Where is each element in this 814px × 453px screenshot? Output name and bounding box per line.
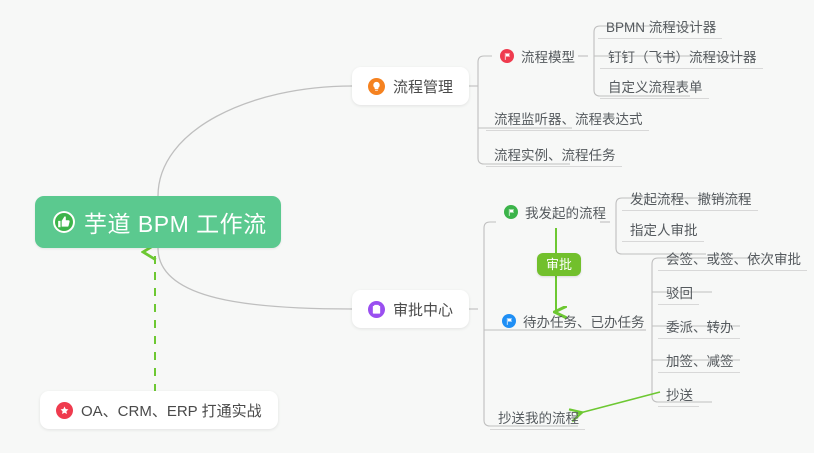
thumbs-up-icon xyxy=(53,211,75,233)
node-instance-task[interactable]: 流程实例、流程任务 xyxy=(486,141,622,167)
node-label: 我发起的流程 xyxy=(525,202,606,222)
node-designated-approver[interactable]: 指定人审批 xyxy=(622,216,704,242)
node-custom-process-form[interactable]: 自定义流程表单 xyxy=(600,73,709,99)
node-label: 流程监听器、流程表达式 xyxy=(494,108,643,128)
flag-icon-green xyxy=(504,205,518,219)
node-label: 流程实例、流程任务 xyxy=(494,144,616,164)
root-label: 芋道 BPM 工作流 xyxy=(84,205,267,239)
node-label: 抄送我的流程 xyxy=(498,407,579,427)
node-listener-expression[interactable]: 流程监听器、流程表达式 xyxy=(486,105,649,131)
bottom-note-label: OA、CRM、ERP 打通实战 xyxy=(81,400,262,421)
node-label: 抄送 xyxy=(666,384,693,404)
node-label: 待办任务、已办任务 xyxy=(523,311,645,331)
root-node[interactable]: 芋道 BPM 工作流 xyxy=(35,196,281,248)
lightbulb-icon xyxy=(368,78,385,95)
bottom-note[interactable]: OA、CRM、ERP 打通实战 xyxy=(40,391,278,429)
node-process-model[interactable]: 流程模型 xyxy=(492,43,581,69)
node-add-remove-sign[interactable]: 加签、减签 xyxy=(658,347,740,373)
node-label: 流程模型 xyxy=(521,46,575,66)
node-bpmn-designer[interactable]: BPMN 流程设计器 xyxy=(598,13,722,39)
branch-label: 审批中心 xyxy=(393,299,453,320)
node-label: 钉钉（飞书）流程设计器 xyxy=(608,46,757,66)
clipboard-icon xyxy=(368,301,385,318)
node-start-cancel-process[interactable]: 发起流程、撤销流程 xyxy=(622,185,758,211)
node-label: 会签、或签、依次审批 xyxy=(666,248,801,268)
flag-icon-blue xyxy=(502,314,516,328)
branch-approval-center[interactable]: 审批中心 xyxy=(352,290,469,328)
node-label: 指定人审批 xyxy=(630,219,698,239)
branch-process-management[interactable]: 流程管理 xyxy=(352,67,469,105)
node-label: 加签、减签 xyxy=(666,350,734,370)
node-label: BPMN 流程设计器 xyxy=(606,16,716,36)
node-label: 自定义流程表单 xyxy=(608,76,703,96)
node-label: 发起流程、撤销流程 xyxy=(630,188,752,208)
node-my-started-process[interactable]: 我发起的流程 xyxy=(496,199,612,225)
node-delegate-transfer[interactable]: 委派、转办 xyxy=(658,313,740,339)
approval-badge-label: 审批 xyxy=(546,257,572,272)
node-reject[interactable]: 驳回 xyxy=(658,279,699,305)
branch-label: 流程管理 xyxy=(393,76,453,97)
node-cc[interactable]: 抄送 xyxy=(658,381,699,407)
node-dingtalk-feishu-designer[interactable]: 钉钉（飞书）流程设计器 xyxy=(600,43,763,69)
node-cc-to-me-process[interactable]: 抄送我的流程 xyxy=(490,404,585,430)
approval-badge[interactable]: 审批 xyxy=(537,253,581,276)
node-countersign[interactable]: 会签、或签、依次审批 xyxy=(658,245,807,271)
flag-icon-red xyxy=(500,49,514,63)
star-icon xyxy=(56,402,73,419)
node-todo-done-task[interactable]: 待办任务、已办任务 xyxy=(494,308,651,334)
node-label: 委派、转办 xyxy=(666,316,734,336)
mindmap-canvas: 芋道 BPM 工作流 流程管理 流程模型 BPMN 流程设计器 钉钉（飞书）流程… xyxy=(0,0,814,453)
node-label: 驳回 xyxy=(666,282,693,302)
